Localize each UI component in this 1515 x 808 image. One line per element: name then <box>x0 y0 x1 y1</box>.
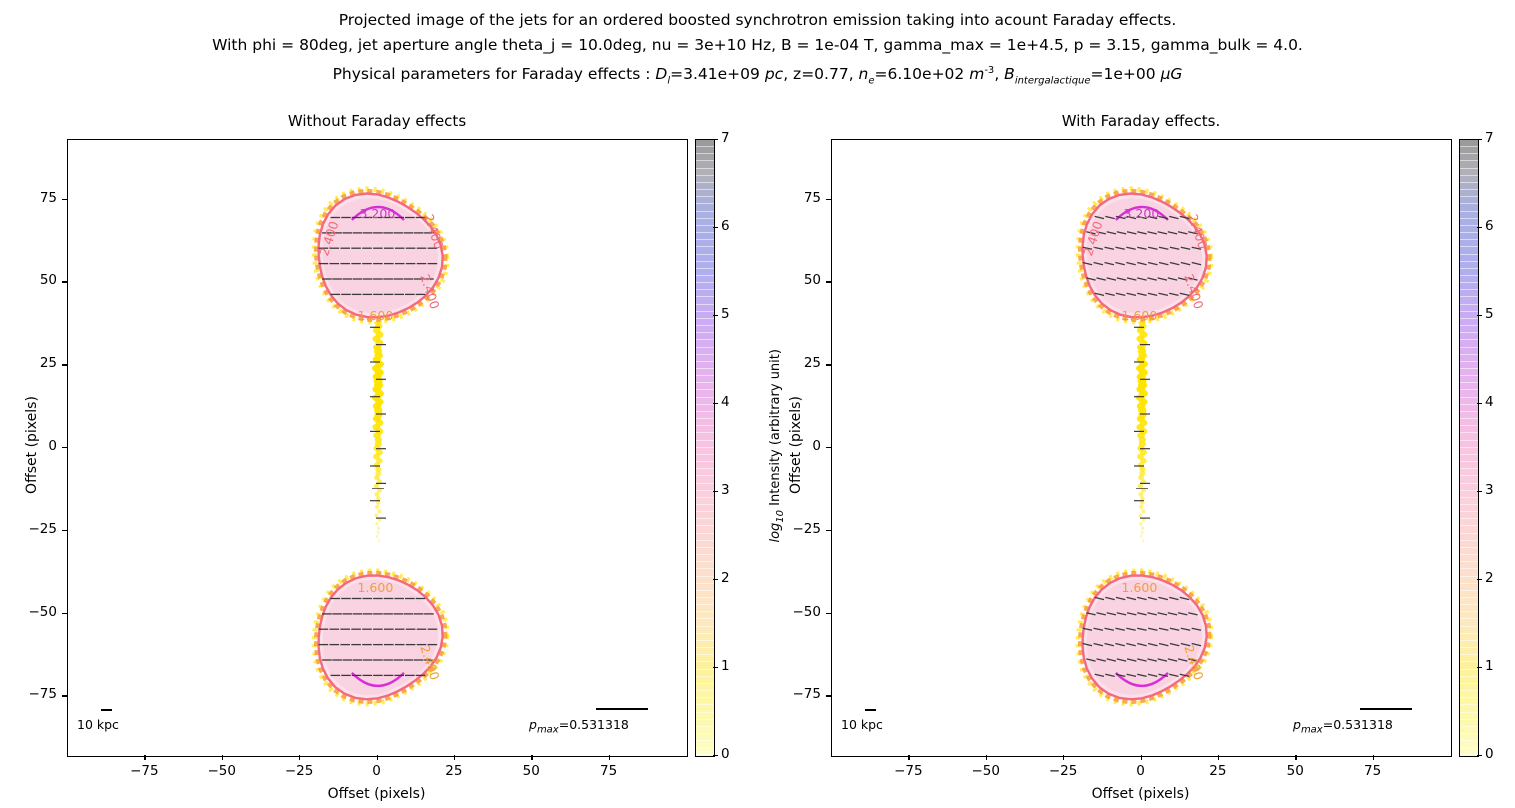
colorbar-band <box>1460 183 1478 190</box>
colorbar-band <box>696 390 714 397</box>
x-tick-label: 0 <box>347 763 407 779</box>
colorbar-band <box>1460 634 1478 641</box>
colorbar-band <box>1460 541 1478 548</box>
colorbar-band <box>1460 691 1478 698</box>
colorbar-band <box>696 476 714 483</box>
colorbar-band <box>1460 741 1478 748</box>
pmax-subscript-left: max <box>537 725 559 736</box>
colorbar-tick-label: 5 <box>721 306 730 322</box>
y-tickmark <box>826 199 831 200</box>
x-tickmark <box>609 755 610 760</box>
colorbar-band <box>1460 369 1478 376</box>
colorbar-band <box>696 405 714 412</box>
colorbar-band <box>1460 276 1478 283</box>
x-tickmark <box>1141 755 1142 760</box>
sep: , <box>994 65 1004 83</box>
colorbar-band <box>696 190 714 197</box>
colorbar-band <box>1460 612 1478 619</box>
colorbar-band <box>696 269 714 276</box>
symbol-B: B <box>1004 65 1015 83</box>
colorbar-band <box>696 419 714 426</box>
colorbar-band <box>1460 498 1478 505</box>
colorbar-tick-label: 0 <box>721 746 730 762</box>
subplot-title-right: With Faraday effects. <box>831 112 1451 130</box>
x-tickmark <box>299 755 300 760</box>
colorbar-band <box>1460 240 1478 247</box>
colorbar-band <box>696 505 714 512</box>
colorbar-band <box>1460 312 1478 319</box>
suptitle-line-2: With phi = 80deg, jet aperture angle the… <box>0 33 1515 58</box>
colorbar-band <box>1460 655 1478 662</box>
colorbar-tickmark <box>713 403 718 404</box>
colorbar-tickmark <box>1477 403 1482 404</box>
colorbar-band <box>696 204 714 211</box>
colorbar-band <box>1460 534 1478 541</box>
colorbar-band <box>1460 662 1478 669</box>
x-tick-label: 25 <box>424 763 484 779</box>
colorbar-band <box>1460 255 1478 262</box>
colorbar-band <box>696 627 714 634</box>
colorbar-band <box>696 655 714 662</box>
colorbar-tick-label: 2 <box>1485 570 1494 586</box>
colorbar-tickmark <box>1477 315 1482 316</box>
colorbar-band <box>696 376 714 383</box>
colorbar-band <box>1460 212 1478 219</box>
colorbar-band <box>696 233 714 240</box>
colorbar-band <box>1460 684 1478 691</box>
colorbar-band <box>1460 233 1478 240</box>
colorbar-band <box>696 161 714 168</box>
colorbar-tick-label: 3 <box>721 482 730 498</box>
colorbar-band <box>696 305 714 312</box>
colorbar-band <box>696 333 714 340</box>
y-tickmark <box>826 695 831 696</box>
colorbar-tickmark <box>713 667 718 668</box>
pmax-reference-line-left <box>596 708 648 710</box>
unit-muG: µG <box>1161 65 1183 83</box>
value-B: =1e+00 <box>1091 65 1161 83</box>
colorbar-band <box>696 247 714 254</box>
colorbar-band <box>696 612 714 619</box>
y-tickmark <box>826 530 831 531</box>
contour-label-3200-left: 3.200 <box>360 206 396 221</box>
colorbar-band <box>1460 727 1478 734</box>
y-tickmark <box>62 695 67 696</box>
colorbar-tick-label: 6 <box>721 218 730 234</box>
colorbar-band <box>1460 426 1478 433</box>
colorbar-band <box>696 355 714 362</box>
colorbar-band <box>696 677 714 684</box>
y-tickmark <box>62 530 67 531</box>
colorbar-band <box>1460 305 1478 312</box>
colorbar-band <box>1460 648 1478 655</box>
colorbar-band <box>696 748 714 755</box>
colorbar-tick-label: 0 <box>1485 746 1494 762</box>
colorbar-band <box>1460 505 1478 512</box>
colorbar-band <box>696 512 714 519</box>
colorbar-tick-label: 7 <box>1485 130 1494 146</box>
value-ne: =6.10e+02 <box>875 65 970 83</box>
colorbar-tickmark <box>1477 139 1482 140</box>
x-axis-label-left: Offset (pixels) <box>67 786 686 802</box>
unit-m-exp: -3 <box>984 65 994 76</box>
colorbar-band <box>696 226 714 233</box>
x-tick-label: 25 <box>1188 763 1248 779</box>
x-tick-label: −75 <box>878 763 938 779</box>
colorbar-band <box>1460 340 1478 347</box>
colorbar-band <box>696 348 714 355</box>
plot-frame-right: 3.2002.4002.4002.4001.6001.6002.400 <box>831 139 1452 757</box>
colorbar-band <box>696 755 714 757</box>
colorbar-band <box>1460 484 1478 491</box>
contour-label-1600-left-south: 1.600 <box>358 580 394 595</box>
colorbar-band <box>1460 591 1478 598</box>
pmax-value-right: =0.531318 <box>1323 717 1393 732</box>
colorbar-band <box>696 498 714 505</box>
contour-label-1600-right: 1.600 <box>1122 308 1158 323</box>
x-tick-label: −25 <box>1033 763 1093 779</box>
colorbar-tickmark <box>713 139 718 140</box>
colorbar-tick-label: 4 <box>721 394 730 410</box>
y-tick-label: −50 <box>779 604 821 620</box>
colorbar-band <box>1460 197 1478 204</box>
y-tickmark <box>62 199 67 200</box>
colorbar-band <box>1460 348 1478 355</box>
colorbar-band <box>1460 641 1478 648</box>
scalebar-label-left: 10 kpc <box>77 717 119 732</box>
colorbar-band <box>696 426 714 433</box>
scalebar-label-right: 10 kpc <box>841 717 883 732</box>
y-axis-label-left: Offset (pixels) <box>24 355 40 535</box>
colorbar-band <box>1460 362 1478 369</box>
colorbar-tickmark <box>1477 579 1482 580</box>
colorbar-band <box>696 519 714 526</box>
colorbar-band <box>696 534 714 541</box>
colorbar-band <box>1460 355 1478 362</box>
colorbar-band <box>1460 405 1478 412</box>
symbol-B-sub: intergalactique <box>1015 75 1091 86</box>
colorbar-band <box>696 455 714 462</box>
figure-suptitle: Projected image of the jets for an order… <box>0 8 1515 93</box>
colorbar-band <box>696 577 714 584</box>
colorbar-band <box>696 262 714 269</box>
colorbar-tickmark <box>713 491 718 492</box>
colorbar-band <box>1460 147 1478 154</box>
colorbar-band <box>1460 140 1478 147</box>
colorbar-band <box>696 290 714 297</box>
colorbar-tickmark <box>713 315 718 316</box>
colorbar-band <box>696 684 714 691</box>
y-tick-label: 50 <box>15 272 57 288</box>
suptitle-line3-pre: Physical parameters for Faraday effects … <box>333 65 656 83</box>
colorbar-left <box>695 139 715 757</box>
colorbar-band <box>1460 269 1478 276</box>
colorbar-band <box>1460 455 1478 462</box>
colorbar-band <box>696 283 714 290</box>
x-tickmark <box>1295 755 1296 760</box>
colorbar-tickmark <box>713 227 718 228</box>
y-tick-label: 75 <box>15 190 57 206</box>
colorbar-band <box>1460 226 1478 233</box>
colorbar-band <box>1460 247 1478 254</box>
colorbar-band <box>696 176 714 183</box>
symbol-ne: n <box>859 65 869 83</box>
colorbar-band <box>1460 326 1478 333</box>
colorbar-band <box>696 169 714 176</box>
x-tickmark <box>531 755 532 760</box>
y-tickmark <box>62 364 67 365</box>
pmax-subscript-right: max <box>1301 725 1323 736</box>
colorbar-label-rest: Intensity (arbitrary unit) <box>768 349 783 510</box>
colorbar-band <box>696 713 714 720</box>
colorbar-tickmark <box>1477 491 1482 492</box>
contour-label-1600-right-south: 1.600 <box>1122 580 1158 595</box>
colorbar-band <box>696 433 714 440</box>
x-tick-label: 50 <box>1265 763 1325 779</box>
colorbar-band <box>1460 526 1478 533</box>
colorbar-tick-label: 4 <box>1485 394 1494 410</box>
colorbar-band <box>1460 748 1478 755</box>
colorbar-band <box>696 448 714 455</box>
value-z: , z=0.77, <box>783 65 858 83</box>
colorbar-tick-label: 6 <box>1485 218 1494 234</box>
colorbar-band <box>696 641 714 648</box>
colorbar-band <box>696 555 714 562</box>
colorbar-band <box>1460 376 1478 383</box>
x-tickmark <box>1063 755 1064 760</box>
colorbar-band <box>696 326 714 333</box>
x-tickmark <box>454 755 455 760</box>
colorbar-band <box>696 469 714 476</box>
colorbar-band <box>696 541 714 548</box>
colorbar-band <box>1460 433 1478 440</box>
colorbar-band <box>1460 476 1478 483</box>
y-tickmark <box>62 281 67 282</box>
colorbar-band <box>1460 219 1478 226</box>
colorbar-band <box>696 484 714 491</box>
jet-dash-marker-left <box>372 488 384 489</box>
colorbar-band <box>1460 319 1478 326</box>
colorbar-band <box>1460 548 1478 555</box>
colorbar-band <box>696 369 714 376</box>
pmax-label-right: pmax=0.531318 <box>1293 717 1393 736</box>
colorbar-band <box>696 147 714 154</box>
colorbar-band <box>1460 448 1478 455</box>
x-axis-label-right: Offset (pixels) <box>831 786 1450 802</box>
colorbar-band <box>1460 383 1478 390</box>
y-tickmark <box>62 447 67 448</box>
pmax-value-left: =0.531318 <box>559 717 629 732</box>
jet-spine-right <box>1133 322 1151 587</box>
pmax-reference-line-right <box>1360 708 1412 710</box>
colorbar-band <box>696 734 714 741</box>
colorbar-band <box>696 691 714 698</box>
colorbar-band <box>1460 262 1478 269</box>
colorbar-band <box>696 219 714 226</box>
contour-label-3200-right: 3.200 <box>1124 206 1160 221</box>
colorbar-band <box>696 491 714 498</box>
colorbar-band <box>1460 755 1478 757</box>
colorbar-band <box>696 383 714 390</box>
colorbar-band <box>1460 290 1478 297</box>
colorbar-tick-label: 3 <box>1485 482 1494 498</box>
colorbar-band <box>696 569 714 576</box>
colorbar-tickmark <box>1477 667 1482 668</box>
scalebar-line-right <box>865 709 876 711</box>
y-tickmark <box>826 364 831 365</box>
value-Dl: =3.41e+09 <box>670 65 765 83</box>
x-tick-label: −50 <box>956 763 1016 779</box>
x-tick-label: 50 <box>501 763 561 779</box>
colorbar-band <box>696 727 714 734</box>
colorbar-band <box>1460 677 1478 684</box>
jet-dash-marker-right <box>1136 488 1148 489</box>
colorbar-band <box>1460 169 1478 176</box>
colorbar-band <box>1460 619 1478 626</box>
colorbar-band <box>696 591 714 598</box>
pmax-label-left: pmax=0.531318 <box>529 717 629 736</box>
colorbar-band <box>696 584 714 591</box>
x-tick-label: 0 <box>1111 763 1171 779</box>
colorbar-band <box>696 398 714 405</box>
y-tickmark <box>826 613 831 614</box>
y-tick-label: 50 <box>779 272 821 288</box>
colorbar-band <box>1460 441 1478 448</box>
y-tickmark <box>62 613 67 614</box>
colorbar-band <box>1460 670 1478 677</box>
colorbar-band <box>1460 154 1478 161</box>
colorbar-band <box>696 362 714 369</box>
colorbar-band <box>1460 555 1478 562</box>
colorbar-band <box>1460 598 1478 605</box>
colorbar-band <box>696 741 714 748</box>
colorbar-band <box>1460 462 1478 469</box>
colorbar-band <box>696 240 714 247</box>
colorbar-band <box>696 662 714 669</box>
colorbar-band <box>1460 519 1478 526</box>
colorbar-band <box>696 212 714 219</box>
colorbar-band <box>696 183 714 190</box>
colorbar-band <box>1460 398 1478 405</box>
colorbar-band <box>1460 491 1478 498</box>
colorbar-tick-label: 2 <box>721 570 730 586</box>
colorbar-band <box>1460 512 1478 519</box>
colorbar-band <box>1460 176 1478 183</box>
colorbar-band <box>1460 283 1478 290</box>
colorbar-band <box>1460 161 1478 168</box>
colorbar-band <box>1460 412 1478 419</box>
x-tick-label: −25 <box>269 763 329 779</box>
colorbar-band <box>1460 584 1478 591</box>
y-tickmark <box>826 281 831 282</box>
colorbar-band <box>696 670 714 677</box>
y-tick-label: −50 <box>15 604 57 620</box>
colorbar-band <box>696 312 714 319</box>
y-tick-label: 75 <box>779 190 821 206</box>
x-tickmark <box>986 755 987 760</box>
suptitle-line-1: Projected image of the jets for an order… <box>0 8 1515 33</box>
x-tickmark <box>222 755 223 760</box>
contour-label-1600-left: 1.600 <box>358 308 394 323</box>
colorbar-band <box>696 197 714 204</box>
unit-m: m <box>969 65 984 83</box>
colorbar-band <box>1460 734 1478 741</box>
y-tickmark <box>826 447 831 448</box>
plot-frame-left: 3.2002.4002.4002.4001.6001.6002.400 <box>67 139 688 757</box>
pmax-symbol-left: p <box>529 717 537 732</box>
y-tick-label: −75 <box>779 686 821 702</box>
colorbar-band <box>696 548 714 555</box>
unit-pc: pc <box>765 65 783 83</box>
colorbar-band <box>1460 333 1478 340</box>
colorbar-tickmark <box>1477 227 1482 228</box>
colorbar-tick-label: 7 <box>721 130 730 146</box>
colorbar-band <box>1460 577 1478 584</box>
colorbar-tick-label: 1 <box>1485 658 1494 674</box>
pmax-symbol-right: p <box>1293 717 1301 732</box>
colorbar-band <box>1460 720 1478 727</box>
colorbar-band <box>696 441 714 448</box>
x-tickmark <box>908 755 909 760</box>
colorbar-band <box>696 720 714 727</box>
colorbar-band <box>696 140 714 147</box>
colorbar-band <box>696 340 714 347</box>
colorbar-tickmark <box>713 755 718 756</box>
colorbar-band <box>696 255 714 262</box>
y-tick-label: −75 <box>15 686 57 702</box>
x-tickmark <box>377 755 378 760</box>
colorbar-band <box>696 412 714 419</box>
colorbar-band <box>1460 204 1478 211</box>
symbol-Dl: D <box>655 65 667 83</box>
colorbar-band <box>696 297 714 304</box>
colorbar-band <box>696 562 714 569</box>
x-tick-label: 75 <box>579 763 639 779</box>
colorbar-band <box>1460 605 1478 612</box>
colorbar-band <box>1460 419 1478 426</box>
colorbar-band <box>696 634 714 641</box>
colorbar-band <box>1460 698 1478 705</box>
colorbar-band <box>696 598 714 605</box>
x-tick-label: −75 <box>114 763 174 779</box>
colorbar-right <box>1459 139 1479 757</box>
colorbar-band <box>1460 469 1478 476</box>
suptitle-line-3: Physical parameters for Faraday effects … <box>0 58 1515 93</box>
colorbar-band <box>696 276 714 283</box>
colorbar-tickmark <box>1477 755 1482 756</box>
jet-spine-left <box>369 322 387 587</box>
scalebar-line-left <box>101 709 112 711</box>
colorbar-band <box>696 462 714 469</box>
x-tickmark <box>1218 755 1219 760</box>
colorbar-band <box>1460 713 1478 720</box>
colorbar-band <box>696 619 714 626</box>
colorbar-tickmark <box>713 579 718 580</box>
colorbar-tick-label: 5 <box>1485 306 1494 322</box>
colorbar-band <box>696 648 714 655</box>
x-tickmark <box>144 755 145 760</box>
colorbar-band <box>696 605 714 612</box>
colorbar-band <box>1460 562 1478 569</box>
colorbar-band <box>696 705 714 712</box>
x-tick-label: −50 <box>192 763 252 779</box>
y-axis-label-right: Offset (pixels) <box>788 355 804 535</box>
colorbar-band <box>1460 569 1478 576</box>
colorbar-band <box>1460 627 1478 634</box>
colorbar-band <box>696 526 714 533</box>
colorbar-band <box>1460 705 1478 712</box>
colorbar-band <box>1460 190 1478 197</box>
